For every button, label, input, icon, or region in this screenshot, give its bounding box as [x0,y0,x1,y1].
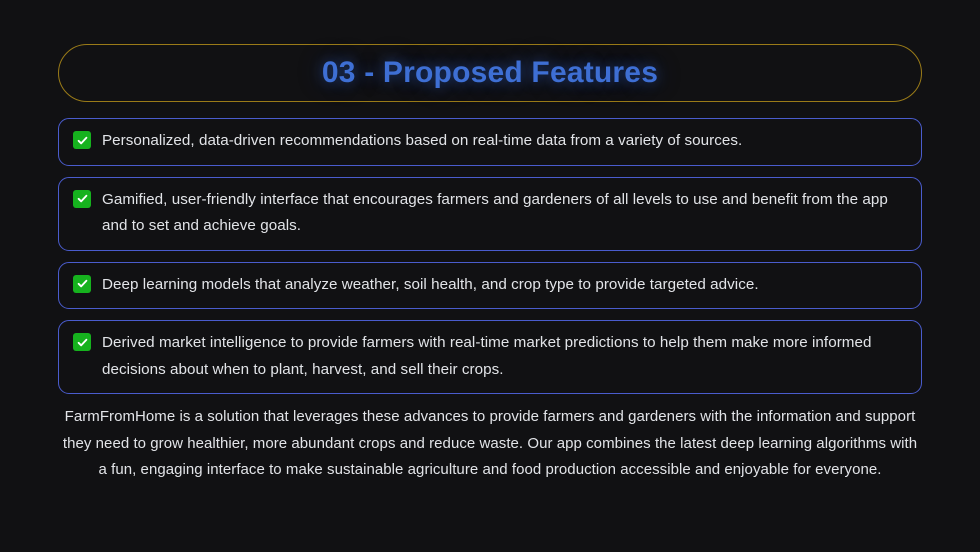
feature-list: Personalized, data-driven recommendation… [58,118,922,405]
check-mark-icon [73,275,91,293]
slide-title-box: 03 - Proposed Features [58,44,922,102]
check-mark-icon [73,190,91,208]
page-title: 03 - Proposed Features [322,56,658,90]
summary-paragraph: FarmFromHome is a solution that leverage… [58,404,922,484]
slide-root: 03 - Proposed Features Personalized, dat… [0,0,980,552]
list-item: Derived market intelligence to provide f… [58,320,922,394]
list-item: Personalized, data-driven recommendation… [58,118,922,166]
feature-text: Derived market intelligence to provide f… [102,330,907,383]
feature-text: Deep learning models that analyze weathe… [102,272,759,299]
feature-text: Personalized, data-driven recommendation… [102,128,742,155]
check-mark-icon [73,131,91,149]
list-item: Deep learning models that analyze weathe… [58,262,922,310]
list-item: Gamified, user-friendly interface that e… [58,177,922,251]
check-mark-icon [73,333,91,351]
feature-text: Gamified, user-friendly interface that e… [102,187,907,240]
